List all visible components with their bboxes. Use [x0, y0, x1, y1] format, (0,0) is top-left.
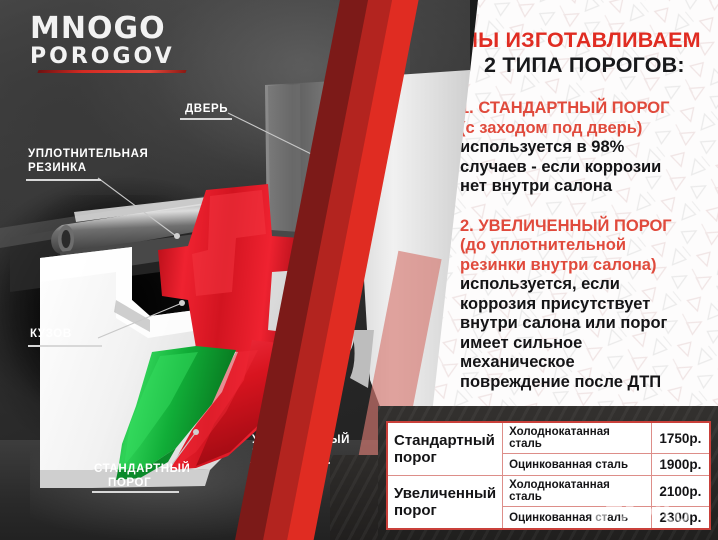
section-enlarged-subtitle-line1: (до уплотнительной: [460, 236, 718, 256]
section-enlarged-body-line2: коррозия присутствует: [460, 295, 718, 315]
price-value-2: 1900р.: [651, 454, 710, 476]
section-enlarged-body-line3: внутри салона или порог: [460, 314, 718, 334]
section-enlarged-body-line1: используется, если: [460, 275, 718, 295]
callout-door-underline: [180, 118, 232, 120]
callout-standard-line1: СТАНДАРТНЫЙ: [94, 463, 190, 476]
callout-door: ДВЕРЬ: [185, 103, 228, 116]
price-value-4: 2300р.: [651, 507, 710, 530]
price-type-standard: Стандартный порог: [387, 422, 503, 476]
header-line1: МЫ ИЗГОТАВЛИВАЕМ: [460, 28, 718, 53]
price-material-1: Холоднокатанная сталь: [503, 422, 652, 454]
promo-banner: ДВЕРЬ УПЛОТНИТЕЛЬНАЯ РЕЗИНКА КУЗОВ СТАНД…: [0, 0, 718, 540]
price-value-1: 1750р.: [651, 422, 710, 454]
section-standard-subtitle: (с заходом под дверь): [460, 119, 718, 139]
callout-body-underline: [28, 345, 102, 347]
section-enlarged-subtitle-line2: резинки внутри салона): [460, 256, 718, 276]
price-type-enlarged: Увеличенный порог: [387, 476, 503, 530]
section-enlarged-body-line6: повреждение после ДТП: [460, 373, 718, 393]
logo-line2: POROGOV: [30, 46, 190, 68]
header-line2: 2 ТИПА ПОРОГОВ:: [484, 53, 718, 78]
callout-seal-line2: РЕЗИНКА: [28, 162, 87, 175]
logo-underline-bar: [37, 70, 186, 73]
price-material-4: Оцинкованная сталь: [503, 507, 652, 530]
callout-seal-underline: [26, 179, 101, 181]
section-standard-body-line3: нет внутри салона: [460, 177, 718, 197]
callout-seal-line1: УПЛОТНИТЕЛЬНАЯ: [28, 148, 148, 161]
price-type-standard-line1: Стандартный: [394, 432, 496, 449]
section-standard-body-line1: используется в 98%: [460, 138, 718, 158]
section-standard-title: 1. СТАНДАРТНЫЙ ПОРОГ: [460, 99, 718, 119]
section-enlarged-body-line5: механическое: [460, 353, 718, 373]
price-material-3: Холоднокатанная сталь: [503, 476, 652, 507]
section-enlarged-title: 2. УВЕЛИЧЕННЫЙ ПОРОГ: [460, 217, 718, 237]
logo[interactable]: MNOGO POROGOV: [30, 14, 190, 74]
price-type-standard-line2: порог: [394, 449, 496, 466]
section-enlarged-body-line4: имеет сильное: [460, 334, 718, 354]
price-material-2: Оцинкованная сталь: [503, 454, 652, 476]
price-type-enlarged-line1: Увеличенный: [394, 485, 496, 502]
section-enlarged: 2. УВЕЛИЧЕННЫЙ ПОРОГ (до уплотнительной …: [460, 217, 718, 393]
logo-line1: MNOGO: [30, 14, 190, 44]
table-row: Стандартный порог Холоднокатанная сталь …: [387, 422, 710, 454]
section-standard-body-line2: случаев - если коррозии: [460, 158, 718, 178]
callout-standard-underline: [92, 491, 179, 493]
callout-body: КУЗОВ: [30, 328, 72, 341]
section-standard: 1. СТАНДАРТНЫЙ ПОРОГ (с заходом под двер…: [460, 99, 718, 197]
price-value-3: 2100р.: [651, 476, 710, 507]
info-text-block: МЫ ИЗГОТАВЛИВАЕМ 2 ТИПА ПОРОГОВ: 1. СТАН…: [460, 0, 718, 392]
callout-standard-line2: ПОРОГ: [108, 477, 151, 490]
table-row: Увеличенный порог Холоднокатанная сталь …: [387, 476, 710, 507]
price-type-enlarged-line2: порог: [394, 502, 496, 519]
price-table: Стандартный порог Холоднокатанная сталь …: [386, 421, 711, 530]
